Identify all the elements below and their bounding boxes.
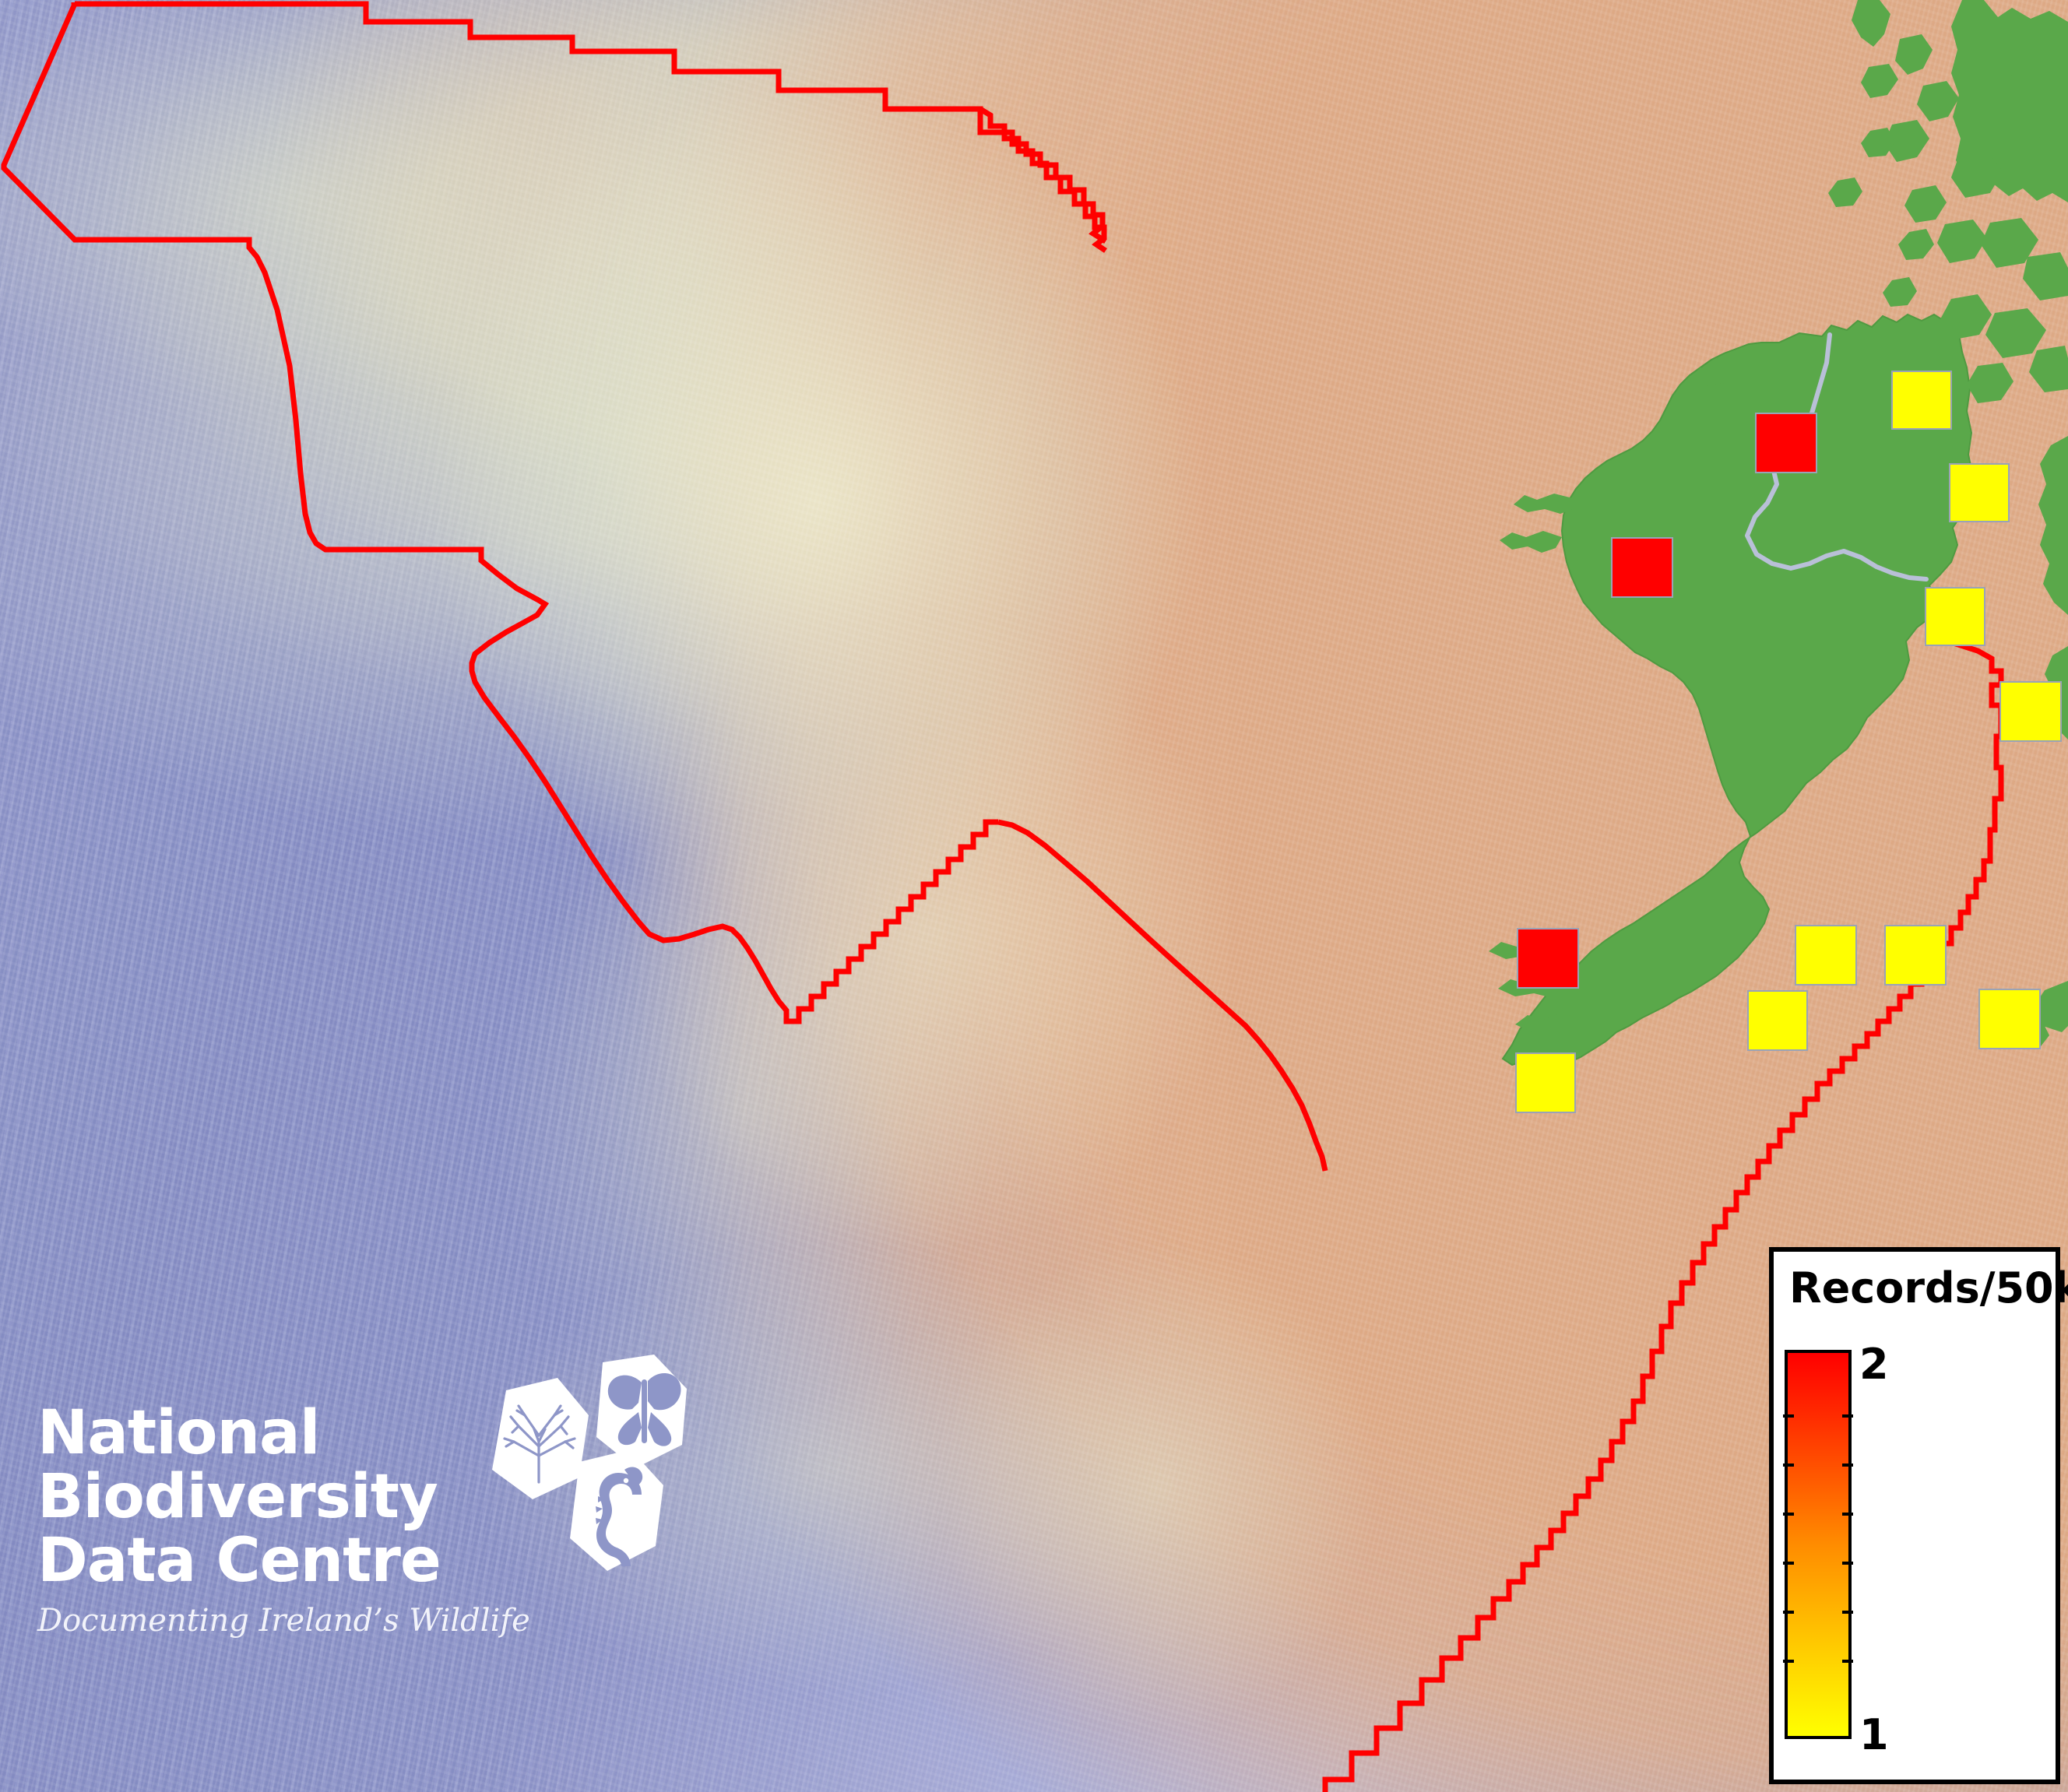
ramp-tick-right-4 [1842, 1562, 1853, 1565]
record-square [1517, 928, 1579, 989]
ramp-tick-right-1 [1842, 1414, 1853, 1418]
wales-landmass [2017, 436, 2068, 1049]
eez-boundary-line-southwest [998, 822, 1325, 1171]
seahorse-icon [570, 1449, 663, 1571]
logo-tagline: Documenting Ireland’s Wildlife [37, 1601, 473, 1641]
record-square [1999, 681, 2062, 742]
ramp-tick-left-4 [1783, 1562, 1794, 1565]
ramp-tick-right-6 [1842, 1660, 1853, 1663]
butterfly-icon [596, 1355, 687, 1468]
logo-wordmark: National Biodiversity Data Centre Docume… [37, 1401, 473, 1641]
record-square [1949, 463, 2010, 522]
ramp-tick-left-1 [1783, 1414, 1794, 1418]
record-square [1611, 537, 1673, 598]
legend-title: Records/50km [1789, 1266, 2068, 1311]
eez-boundary-line [4, 2, 1106, 1021]
ireland-mayo-peninsula [1514, 494, 1573, 514]
ramp-tick-left-3 [1783, 1513, 1794, 1516]
map-screenshot: National Biodiversity Data Centre Docume… [0, 0, 2068, 1792]
legend-min-label: 1 [1859, 1714, 1889, 1756]
legend-max-label: 2 [1859, 1344, 1889, 1386]
ramp-tick-left-5 [1783, 1611, 1794, 1614]
logo-mark [458, 1355, 707, 1596]
record-square [1747, 990, 1808, 1051]
logo-line-1: National [37, 1401, 473, 1465]
record-square [1925, 587, 1985, 646]
ramp-tick-left-6 [1783, 1660, 1794, 1663]
record-square [1884, 925, 1947, 986]
record-square [1891, 371, 1952, 430]
plant-icon [492, 1378, 589, 1499]
legend-color-ramp [1785, 1350, 1852, 1739]
ramp-tick-right-3 [1842, 1513, 1853, 1516]
record-square [1515, 1052, 1576, 1113]
record-square [1795, 925, 1857, 986]
record-square [1978, 989, 2041, 1049]
ramp-tick-left-2 [1783, 1463, 1794, 1467]
ireland-west-coast-detail [1500, 531, 1562, 553]
legend-panel: Records/50km 2 1 [1769, 1247, 2060, 1784]
record-square [1755, 413, 1817, 473]
legend-color-ramp-wrap [1785, 1350, 1852, 1739]
ramp-tick-right-5 [1842, 1611, 1853, 1614]
logo-line-2: Biodiversity [37, 1465, 473, 1529]
logo-line-3: Data Centre [37, 1529, 473, 1593]
ramp-tick-right-2 [1842, 1463, 1853, 1467]
